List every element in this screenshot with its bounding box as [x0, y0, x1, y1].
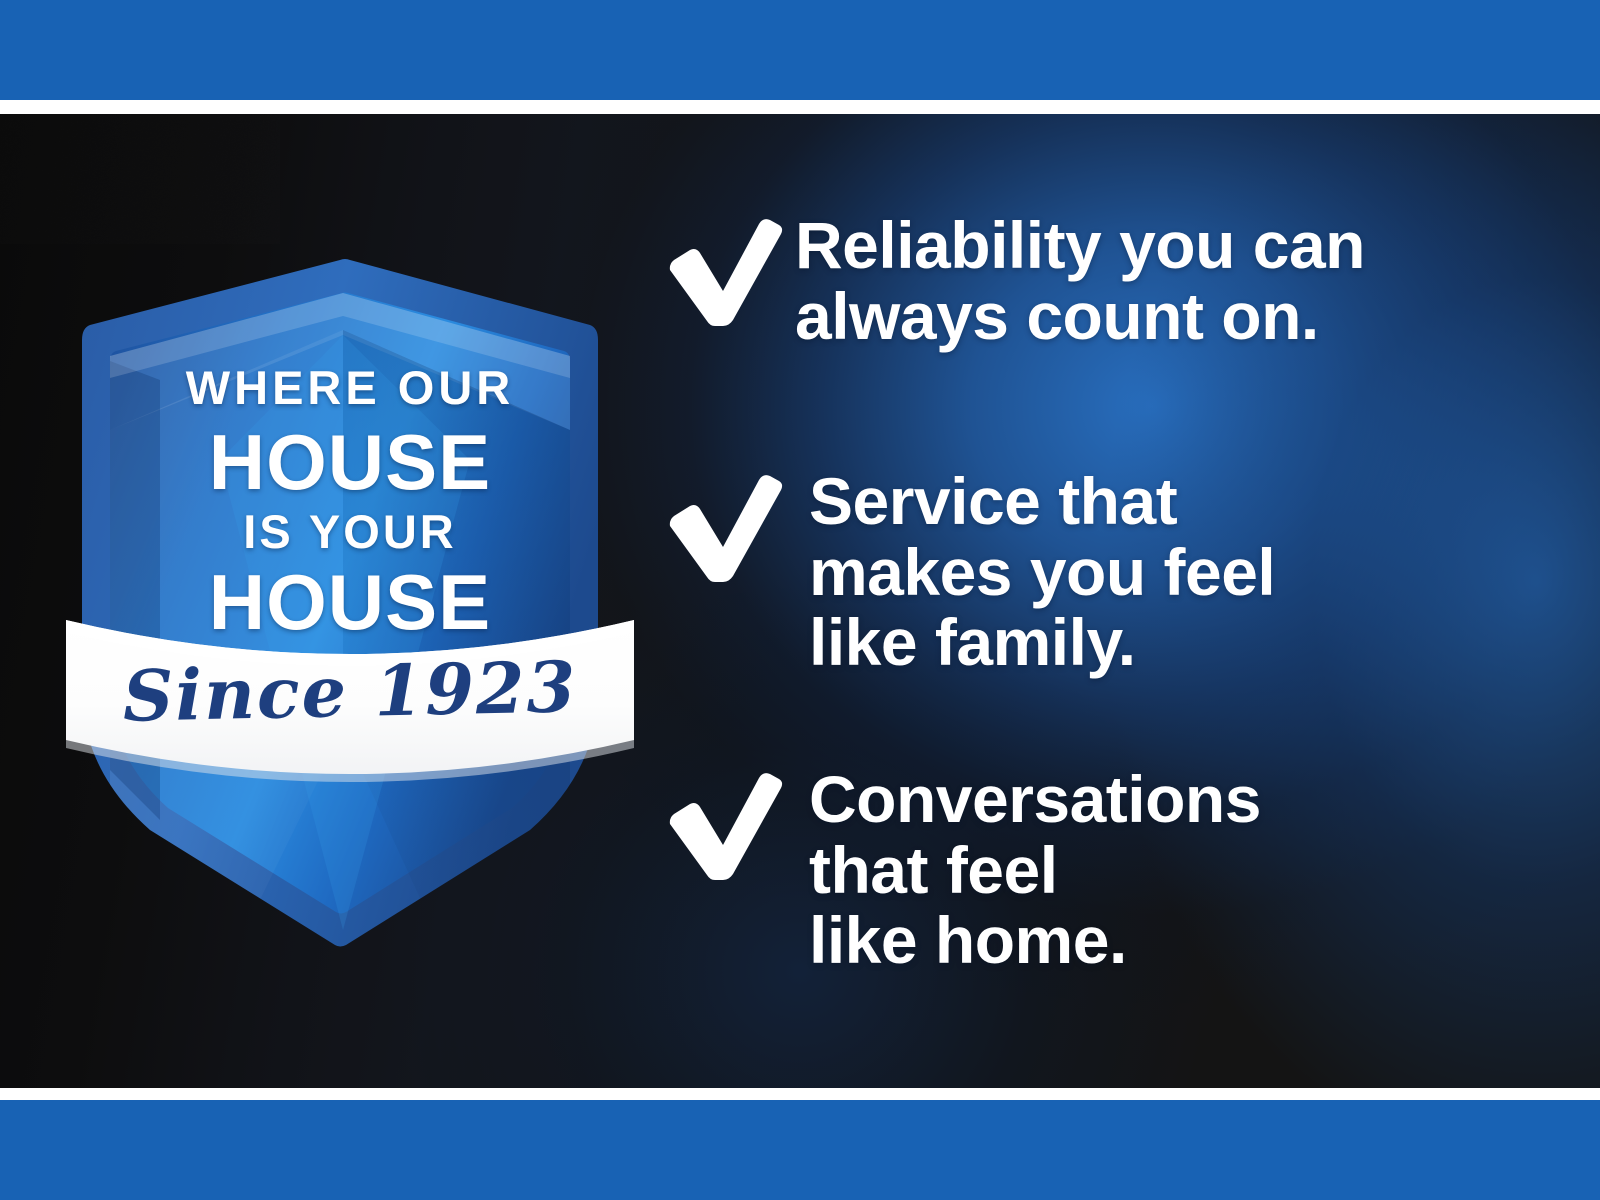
benefit-text: Reliability you can always count on.	[795, 210, 1365, 351]
benefit-line-2: that feel	[809, 835, 1261, 906]
promotional-poster: WHERE OUR HOUSE IS YOUR HOUSE Since 1923…	[0, 0, 1600, 1200]
benefit-text: Service that makes you feel like family.	[809, 466, 1275, 678]
check-icon	[665, 466, 795, 582]
benefit-line-3: like family.	[809, 607, 1275, 678]
benefit-line-1: Reliability you can	[795, 210, 1365, 281]
benefits-list: Reliability you can always count on. Ser…	[665, 114, 1545, 1088]
benefit-item-conversations: Conversations that feel like home.	[665, 764, 1261, 976]
benefit-line-2: makes you feel	[809, 537, 1275, 608]
benefit-line-1: Service that	[809, 466, 1275, 537]
benefit-line-1: Conversations	[809, 764, 1261, 835]
top-brand-bar	[0, 0, 1600, 100]
benefit-line-3: like home.	[809, 905, 1261, 976]
check-icon	[665, 210, 795, 326]
benefit-line-2: always count on.	[795, 281, 1365, 352]
check-icon	[665, 764, 795, 880]
shield-emblem: WHERE OUR HOUSE IS YOUR HOUSE Since 1923	[50, 130, 650, 970]
benefit-text: Conversations that feel like home.	[809, 764, 1261, 976]
benefit-item-service: Service that makes you feel like family.	[665, 466, 1275, 678]
bottom-brand-bar	[0, 1100, 1600, 1200]
benefit-item-reliability: Reliability you can always count on.	[665, 210, 1365, 351]
